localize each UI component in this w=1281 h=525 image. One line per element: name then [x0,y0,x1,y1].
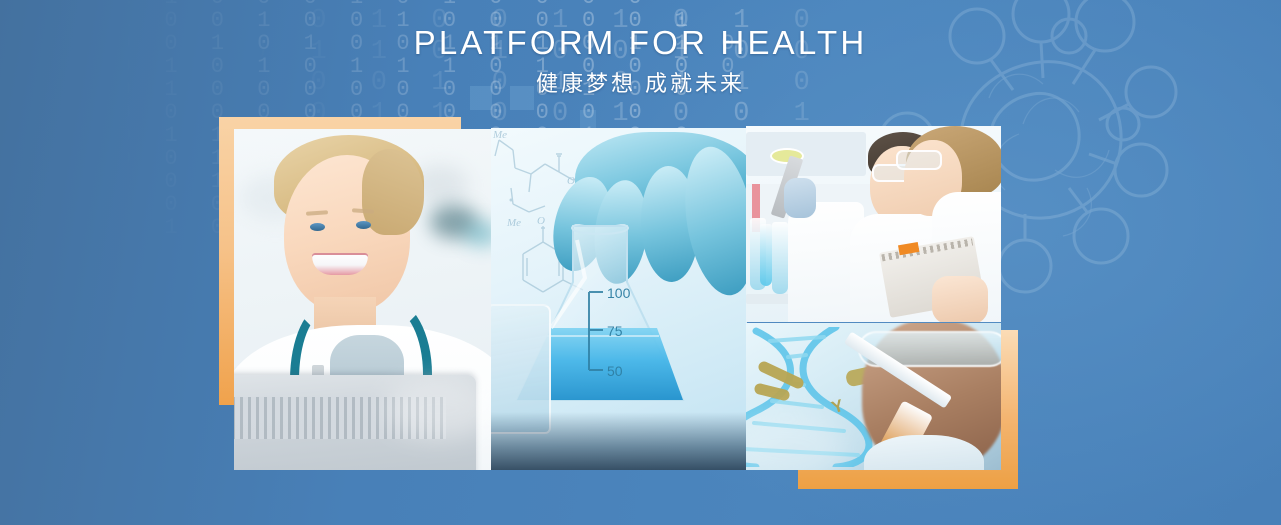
svg-text:50: 50 [607,363,623,379]
photo-flask-foreground-shadow [491,412,747,470]
test-tube-4 [760,224,772,286]
svg-text:75: 75 [607,323,623,339]
photo-dna: Y Y [746,323,1001,470]
svg-text:Me: Me [493,130,507,141]
svg-text:100: 100 [607,285,631,301]
lab-shelf-upper [746,132,866,176]
photo-lab-duo [746,126,1001,322]
scientist-f-goggles [896,150,942,170]
photo-doctor [234,129,492,470]
health-platform-banner: 1 1 0 0 0 1 0 1 0 0 0 0 1 0 0 1 0 0 1 0 … [0,0,1281,525]
photo-flask: Me OH O Me O [491,128,747,470]
photo-doctor-highlight [384,379,492,439]
hand-holding-notepad [932,276,988,322]
doctor-eye-left [310,223,325,231]
photo-collage: Me OH O Me O [0,0,1281,525]
doctor-eye-right [356,221,371,229]
test-tube-2 [772,222,788,294]
scientist-m-glove [784,178,816,218]
doctor-smile [312,253,368,275]
